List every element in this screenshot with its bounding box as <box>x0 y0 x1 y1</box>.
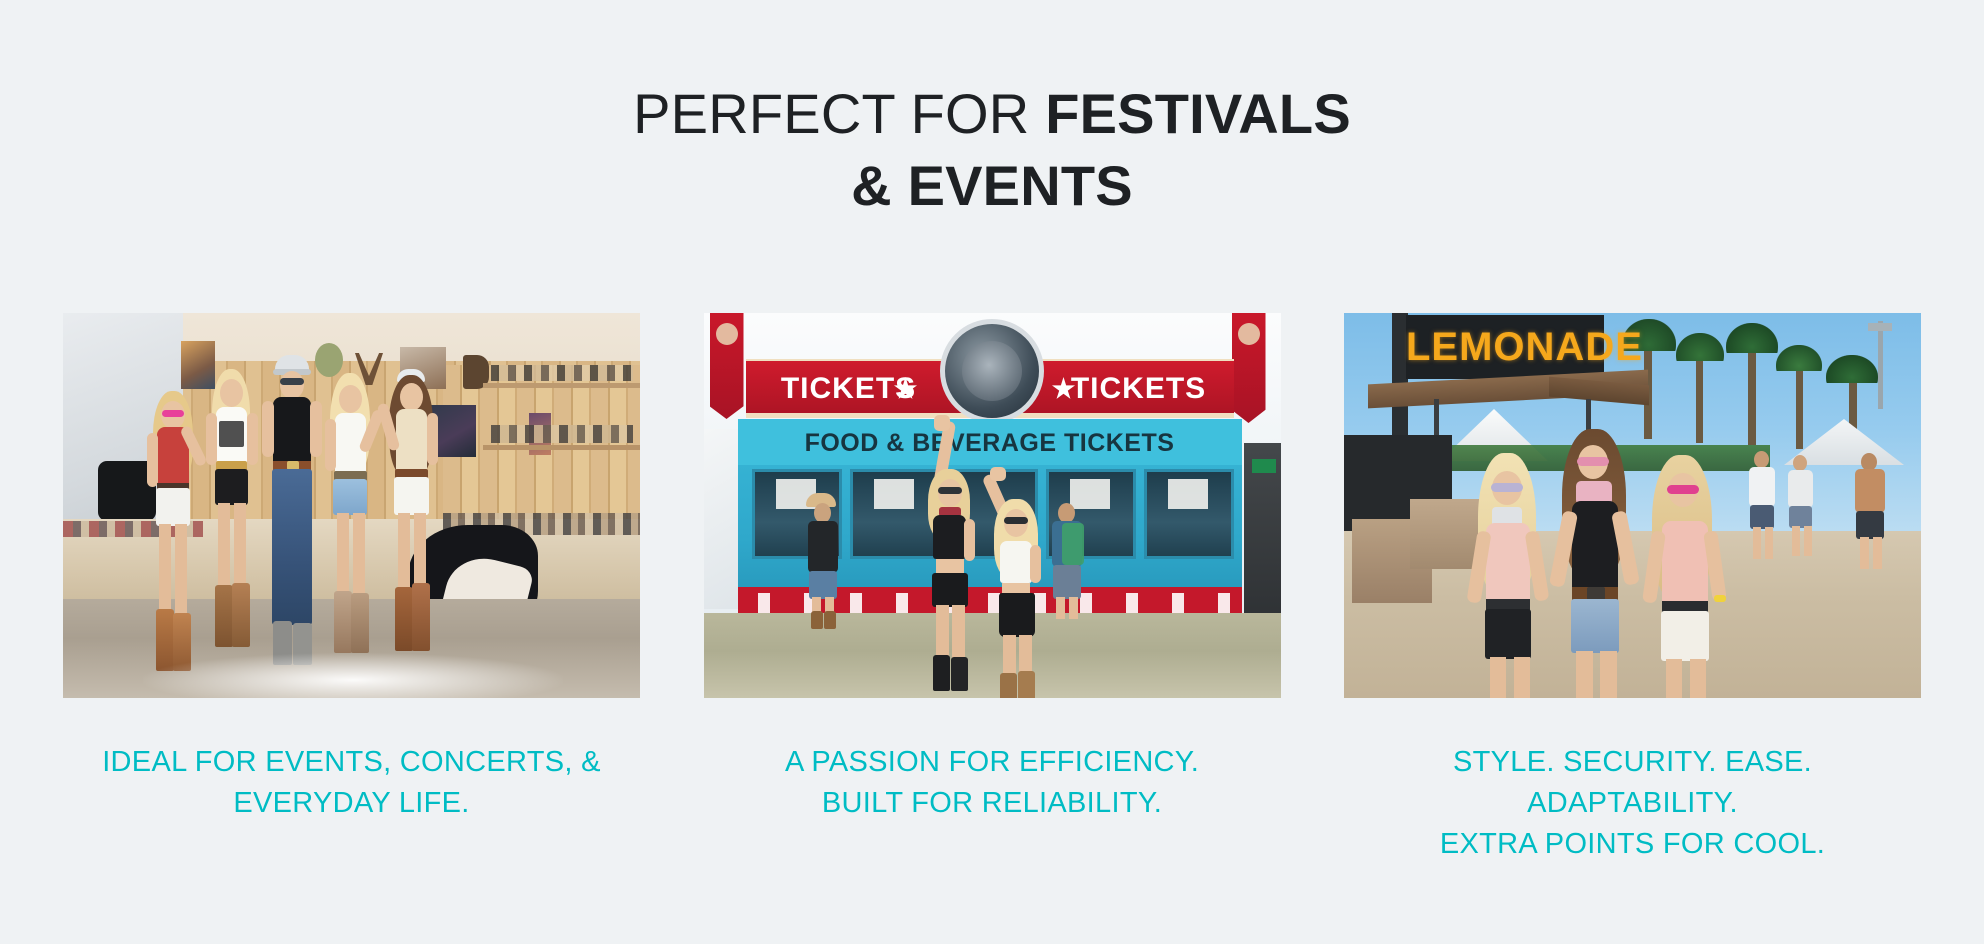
person-figure <box>1552 429 1638 698</box>
person-figure <box>145 391 201 681</box>
festivals-events-section: PERFECT FOR FESTIVALS & EVENTS <box>0 0 1984 944</box>
ticket-booth-photo: TICKETS TICKETS FOOD & BEVERAGE TICKETS <box>704 313 1281 698</box>
feature-card-3: LEMONADE <box>1344 313 1921 866</box>
person-figure <box>1644 455 1728 698</box>
page-title-bold-part: FESTIVALS <box>1045 82 1351 145</box>
person-figure <box>321 373 379 673</box>
lemonade-sign: LEMONADE <box>1406 319 1604 375</box>
card-caption: A PASSION FOR EFFICIENCY. BUILT FOR RELI… <box>704 742 1281 824</box>
person-figure <box>976 491 1046 691</box>
person-figure <box>259 355 325 665</box>
lemonade-stand-photo: LEMONADE <box>1344 313 1921 698</box>
feature-card-row: IDEAL FOR EVENTS, CONCERTS, & EVERYDAY L… <box>63 313 1921 866</box>
person-figure <box>1850 453 1890 573</box>
page-title: PERFECT FOR FESTIVALS & EVENTS <box>0 78 1984 221</box>
feature-card-1: IDEAL FOR EVENTS, CONCERTS, & EVERYDAY L… <box>63 313 640 824</box>
card-caption: IDEAL FOR EVENTS, CONCERTS, & EVERYDAY L… <box>63 742 640 824</box>
person-figure <box>1784 455 1818 559</box>
page-title-light-part: PERFECT FOR <box>633 82 1045 145</box>
food-beverage-sign: FOOD & BEVERAGE TICKETS <box>748 425 1232 461</box>
vendor-booth-group-photo <box>63 313 640 698</box>
page-title-line-2: & EVENTS <box>851 154 1133 217</box>
person-figure <box>914 463 984 688</box>
person-figure <box>1470 453 1550 698</box>
tickets-sign-right: TICKETS <box>1054 369 1224 409</box>
person-figure <box>381 369 441 669</box>
person-figure <box>1744 451 1780 563</box>
card-caption: STYLE. SECURITY. EASE. ADAPTABILITY. EXT… <box>1344 742 1921 866</box>
feature-card-2: TICKETS TICKETS FOOD & BEVERAGE TICKETS <box>704 313 1281 824</box>
person-figure <box>1044 499 1090 629</box>
person-figure <box>203 369 259 669</box>
person-figure <box>800 493 846 629</box>
